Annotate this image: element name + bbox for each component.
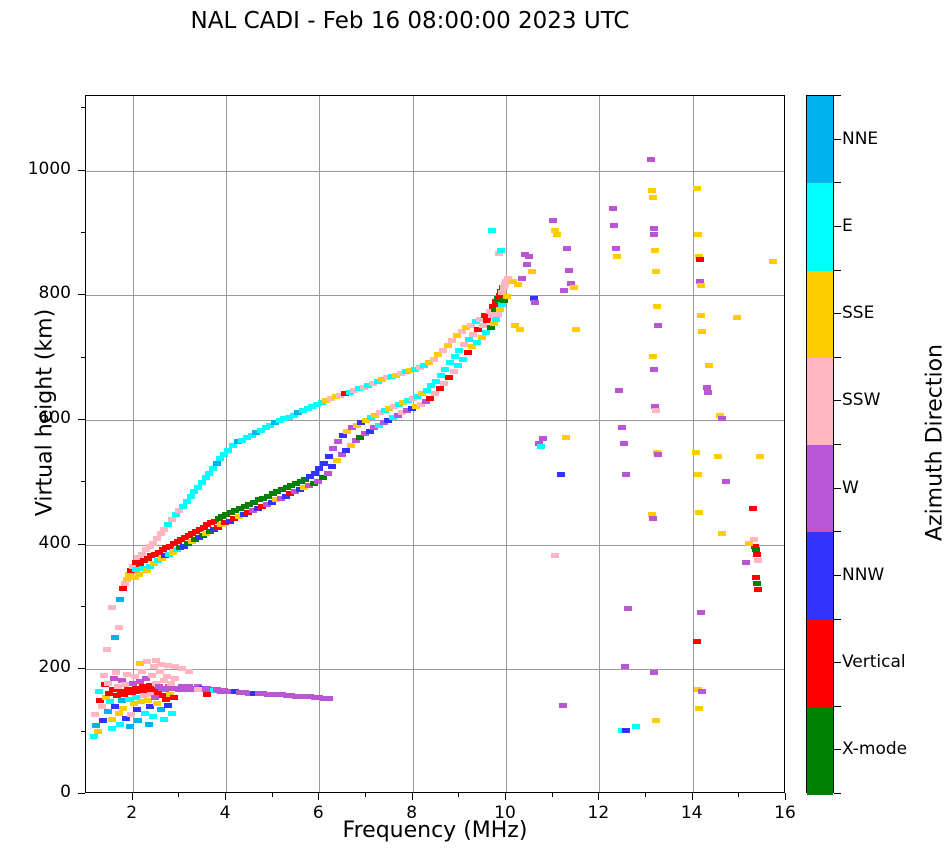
y-tick xyxy=(78,419,85,420)
colorbar-boundary-tick xyxy=(834,182,841,183)
echo-point xyxy=(143,659,151,664)
echo-point xyxy=(612,246,620,251)
colorbar-segment-nnw xyxy=(807,532,833,620)
echo-point xyxy=(446,360,454,365)
echo-point xyxy=(696,257,704,262)
colorbar-label-nnw: NNW xyxy=(842,565,884,585)
echo-point xyxy=(497,248,505,253)
echo-point xyxy=(145,722,153,727)
echo-point xyxy=(697,610,705,615)
colorbar-label-w: W xyxy=(842,478,859,498)
colorbar-boundary-tick xyxy=(834,531,841,532)
y-tick-minor xyxy=(81,731,85,732)
echo-point xyxy=(426,396,434,401)
y-tick xyxy=(78,544,85,545)
echo-point xyxy=(697,313,705,318)
echo-point xyxy=(473,340,481,345)
echo-point xyxy=(487,325,495,330)
y-tick xyxy=(78,294,85,295)
echo-point xyxy=(468,344,476,349)
echo-point xyxy=(202,475,210,480)
colorbar-segment-e xyxy=(807,183,833,271)
echo-point xyxy=(494,312,502,317)
echo-point xyxy=(115,625,123,630)
echo-point xyxy=(90,734,98,739)
echo-point xyxy=(160,717,168,722)
echo-point xyxy=(198,480,206,485)
colorbar-title: Azimuth Direction xyxy=(923,283,948,603)
colorbar-boundary-tick xyxy=(834,619,841,620)
echo-point xyxy=(695,706,703,711)
colorbar-label-e: E xyxy=(842,216,853,236)
echo-point xyxy=(427,383,435,388)
echo-point xyxy=(440,381,448,386)
echo-point xyxy=(116,722,124,727)
echo-point xyxy=(694,232,702,237)
echo-point xyxy=(453,333,461,338)
echo-point xyxy=(563,246,571,251)
echo-point xyxy=(528,269,536,274)
x-tick-minor xyxy=(645,793,646,797)
echo-point xyxy=(94,729,102,734)
echo-point xyxy=(523,262,531,267)
echo-point xyxy=(91,712,99,717)
colorbar-label-x-mode: X-mode xyxy=(842,739,907,759)
echo-point xyxy=(334,439,342,444)
echo-point xyxy=(324,471,332,476)
echo-point xyxy=(185,669,193,674)
echo-point xyxy=(164,703,172,708)
echo-point xyxy=(209,466,217,471)
x-tick-minor xyxy=(552,793,553,797)
echo-point xyxy=(437,373,445,378)
colorbar-boundary-tick xyxy=(834,95,841,96)
colorbar-label-vertical: Vertical xyxy=(842,652,906,672)
echo-point xyxy=(108,726,116,731)
echo-point xyxy=(733,315,741,320)
colorbar xyxy=(806,95,834,793)
x-tick-minor xyxy=(272,793,273,797)
echo-point xyxy=(652,269,660,274)
echo-point xyxy=(698,689,706,694)
echo-point xyxy=(693,639,701,644)
echo-point xyxy=(157,531,165,536)
y-tick-label: 1000 xyxy=(1,159,71,179)
echo-point xyxy=(754,587,762,592)
echo-point xyxy=(149,541,157,546)
echo-point xyxy=(333,458,341,463)
echo-point xyxy=(164,522,172,527)
y-tick-minor xyxy=(81,357,85,358)
echo-point xyxy=(434,352,442,357)
echo-point xyxy=(613,254,621,259)
echo-point xyxy=(469,332,477,337)
echo-point xyxy=(116,597,124,602)
echo-point xyxy=(220,452,228,457)
echo-point xyxy=(108,717,116,722)
echo-point xyxy=(551,553,559,558)
echo-point xyxy=(652,408,660,413)
colorbar-boundary-tick xyxy=(834,706,841,707)
echo-point xyxy=(134,718,142,723)
colorbar-segment-w xyxy=(807,445,833,533)
echo-point xyxy=(610,223,618,228)
echo-point xyxy=(213,461,221,466)
echo-point xyxy=(432,379,440,384)
y-tick-minor xyxy=(81,232,85,233)
echo-point xyxy=(329,446,337,451)
echo-point xyxy=(328,464,336,469)
echo-point xyxy=(570,285,578,290)
echo-point xyxy=(705,363,713,368)
echo-point xyxy=(448,338,456,343)
x-tick xyxy=(412,793,413,800)
ionogram-figure: NAL CADI - Feb 16 08:00:00 2023 UTC 2468… xyxy=(0,0,951,856)
echo-point xyxy=(126,724,134,729)
y-tick-label: 200 xyxy=(1,657,71,677)
echo-point xyxy=(342,448,350,453)
echo-point xyxy=(615,388,623,393)
echo-point xyxy=(722,479,730,484)
echo-point xyxy=(153,701,161,706)
echo-point xyxy=(698,329,706,334)
echo-point xyxy=(141,711,149,716)
echo-point xyxy=(652,718,660,723)
echo-point xyxy=(745,541,753,546)
echo-point xyxy=(648,188,656,193)
echo-point xyxy=(539,436,547,441)
plot-area xyxy=(85,95,785,793)
echo-point xyxy=(194,687,202,692)
echo-point xyxy=(516,327,524,332)
echo-point xyxy=(454,363,462,368)
echo-point xyxy=(503,294,511,299)
echo-point xyxy=(650,226,658,231)
echo-point xyxy=(560,288,568,293)
echo-point xyxy=(103,647,111,652)
echo-point xyxy=(95,689,103,694)
x-tick-minor xyxy=(178,793,179,797)
echo-point xyxy=(769,259,777,264)
echo-point xyxy=(650,232,658,237)
echo-point xyxy=(194,485,202,490)
echo-point xyxy=(172,512,180,517)
echo-point xyxy=(171,676,179,681)
x-tick-minor xyxy=(458,793,459,797)
echo-point xyxy=(441,367,449,372)
echo-point xyxy=(100,673,108,678)
echo-point xyxy=(121,581,129,586)
colorbar-tick xyxy=(834,488,841,489)
echo-point xyxy=(451,354,459,359)
echo-point xyxy=(104,681,112,686)
echo-point xyxy=(465,337,473,342)
echo-point xyxy=(559,703,567,708)
colorbar-boundary-tick xyxy=(834,793,841,794)
echo-point xyxy=(490,321,498,326)
echo-point xyxy=(754,558,762,563)
echo-point xyxy=(521,252,529,257)
echo-point xyxy=(423,388,431,393)
echo-point xyxy=(436,386,444,391)
echo-point xyxy=(430,357,438,362)
colorbar-tick xyxy=(834,139,841,140)
echo-point xyxy=(444,343,452,348)
y-tick-minor xyxy=(81,606,85,607)
echo-point xyxy=(622,472,630,477)
echo-point xyxy=(99,718,107,723)
echo-point xyxy=(651,248,659,253)
echo-point xyxy=(537,444,545,449)
echo-point xyxy=(460,342,468,347)
colorbar-label-sse: SSE xyxy=(842,303,874,323)
echo-point xyxy=(311,471,319,476)
echo-point xyxy=(718,416,726,421)
x-tick xyxy=(785,793,786,800)
echo-point xyxy=(753,581,761,586)
echo-point xyxy=(632,724,640,729)
echo-point xyxy=(170,695,178,700)
echo-point xyxy=(112,670,120,675)
echo-point xyxy=(474,327,482,332)
echo-point xyxy=(325,696,333,701)
echo-point xyxy=(742,560,750,565)
echo-point xyxy=(694,472,702,477)
echo-point xyxy=(347,443,355,448)
echo-point xyxy=(431,391,439,396)
y-axis-title: Virtual height (km) xyxy=(33,253,58,573)
echo-point xyxy=(621,664,629,669)
colorbar-segment-ssw xyxy=(807,358,833,446)
colorbar-tick xyxy=(834,226,841,227)
echo-point xyxy=(168,711,176,716)
echo-point xyxy=(92,723,100,728)
colorbar-label-ssw: SSW xyxy=(842,390,880,410)
x-tick xyxy=(598,793,599,800)
echo-point xyxy=(203,692,211,697)
echo-point xyxy=(653,304,661,309)
x-tick xyxy=(692,793,693,800)
echo-point xyxy=(572,327,580,332)
echo-point xyxy=(531,300,539,305)
echo-point xyxy=(160,527,168,532)
echo-point xyxy=(753,552,761,557)
echo-point xyxy=(104,709,112,714)
x-axis-title: Frequency (MHz) xyxy=(85,818,785,843)
echo-point xyxy=(459,357,467,362)
x-tick-minor xyxy=(365,793,366,797)
echo-point xyxy=(111,635,119,640)
colorbar-tick xyxy=(834,575,841,576)
colorbar-label-nne: NNE xyxy=(842,129,878,149)
y-tick-label: 0 xyxy=(1,782,71,802)
echo-point xyxy=(496,307,504,312)
echo-point xyxy=(654,323,662,328)
echo-point xyxy=(183,499,191,504)
echo-point xyxy=(514,282,522,287)
echo-point xyxy=(153,536,161,541)
echo-point xyxy=(649,195,657,200)
colorbar-segment-x-mode xyxy=(807,707,833,795)
y-tick xyxy=(78,668,85,669)
colorbar-boundary-tick xyxy=(834,270,841,271)
echo-point xyxy=(216,456,224,461)
echo-point xyxy=(649,354,657,359)
echo-point xyxy=(752,575,760,580)
echo-point xyxy=(339,433,347,438)
page-title: NAL CADI - Feb 16 08:00:00 2023 UTC xyxy=(0,8,820,34)
echo-point xyxy=(478,335,486,340)
echo-point xyxy=(647,157,655,162)
echo-point xyxy=(168,517,176,522)
echo-point xyxy=(622,728,630,733)
echo-point xyxy=(149,714,157,719)
echo-point xyxy=(562,435,570,440)
colorbar-tick xyxy=(834,662,841,663)
echo-point xyxy=(482,330,490,335)
echo-point xyxy=(649,516,657,521)
echo-point xyxy=(553,232,561,237)
echo-point xyxy=(111,704,119,709)
echo-point xyxy=(654,452,662,457)
echo-point xyxy=(119,586,127,591)
y-tick-minor xyxy=(81,481,85,482)
echo-point xyxy=(127,712,135,717)
echo-point xyxy=(338,452,346,457)
colorbar-tick xyxy=(834,313,841,314)
echo-point xyxy=(157,707,165,712)
echo-point xyxy=(320,461,328,466)
echo-point xyxy=(557,472,565,477)
echo-point xyxy=(488,228,496,233)
y-tick xyxy=(78,170,85,171)
echo-point xyxy=(492,317,500,322)
echo-point xyxy=(565,268,573,273)
colorbar-tick xyxy=(834,400,841,401)
echo-point xyxy=(205,471,213,476)
colorbar-boundary-tick xyxy=(834,357,841,358)
echo-point xyxy=(618,425,626,430)
echo-point xyxy=(224,448,232,453)
echo-point xyxy=(479,323,487,328)
echo-point xyxy=(143,568,151,573)
data-layer xyxy=(86,96,784,792)
echo-point xyxy=(187,494,195,499)
echo-point xyxy=(620,441,628,446)
y-tick-minor xyxy=(81,107,85,108)
echo-point xyxy=(450,369,458,374)
x-tick xyxy=(132,793,133,800)
echo-point xyxy=(718,531,726,536)
echo-point xyxy=(609,206,617,211)
echo-point xyxy=(714,454,722,459)
echo-point xyxy=(697,283,705,288)
echo-point xyxy=(175,508,183,513)
echo-point xyxy=(110,676,118,681)
echo-point xyxy=(439,348,447,353)
echo-point xyxy=(138,669,146,674)
colorbar-tick xyxy=(834,749,841,750)
x-tick xyxy=(505,793,506,800)
echo-point xyxy=(119,706,127,711)
echo-point xyxy=(445,375,453,380)
echo-point xyxy=(756,454,764,459)
echo-point xyxy=(152,658,160,663)
echo-point xyxy=(624,606,632,611)
echo-point xyxy=(315,466,323,471)
colorbar-segment-nne xyxy=(807,96,833,184)
x-tick xyxy=(225,793,226,800)
echo-point xyxy=(108,605,116,610)
echo-point xyxy=(179,504,187,509)
echo-point xyxy=(549,218,557,223)
echo-point xyxy=(498,302,506,307)
x-tick xyxy=(318,793,319,800)
echo-point xyxy=(455,348,463,353)
echo-point xyxy=(704,390,712,395)
x-tick-minor xyxy=(738,793,739,797)
echo-point xyxy=(464,350,472,355)
echo-point xyxy=(695,510,703,515)
colorbar-segment-vertical xyxy=(807,620,833,708)
echo-point xyxy=(136,661,144,666)
echo-point xyxy=(650,670,658,675)
echo-point xyxy=(325,454,333,459)
echo-point xyxy=(650,367,658,372)
echo-point xyxy=(749,506,757,511)
echo-point xyxy=(319,475,327,480)
echo-point xyxy=(693,186,701,191)
echo-point xyxy=(518,276,526,281)
echo-point xyxy=(190,489,198,494)
colorbar-segment-sse xyxy=(807,271,833,359)
y-tick xyxy=(78,793,85,794)
echo-point xyxy=(692,450,700,455)
colorbar-boundary-tick xyxy=(834,444,841,445)
